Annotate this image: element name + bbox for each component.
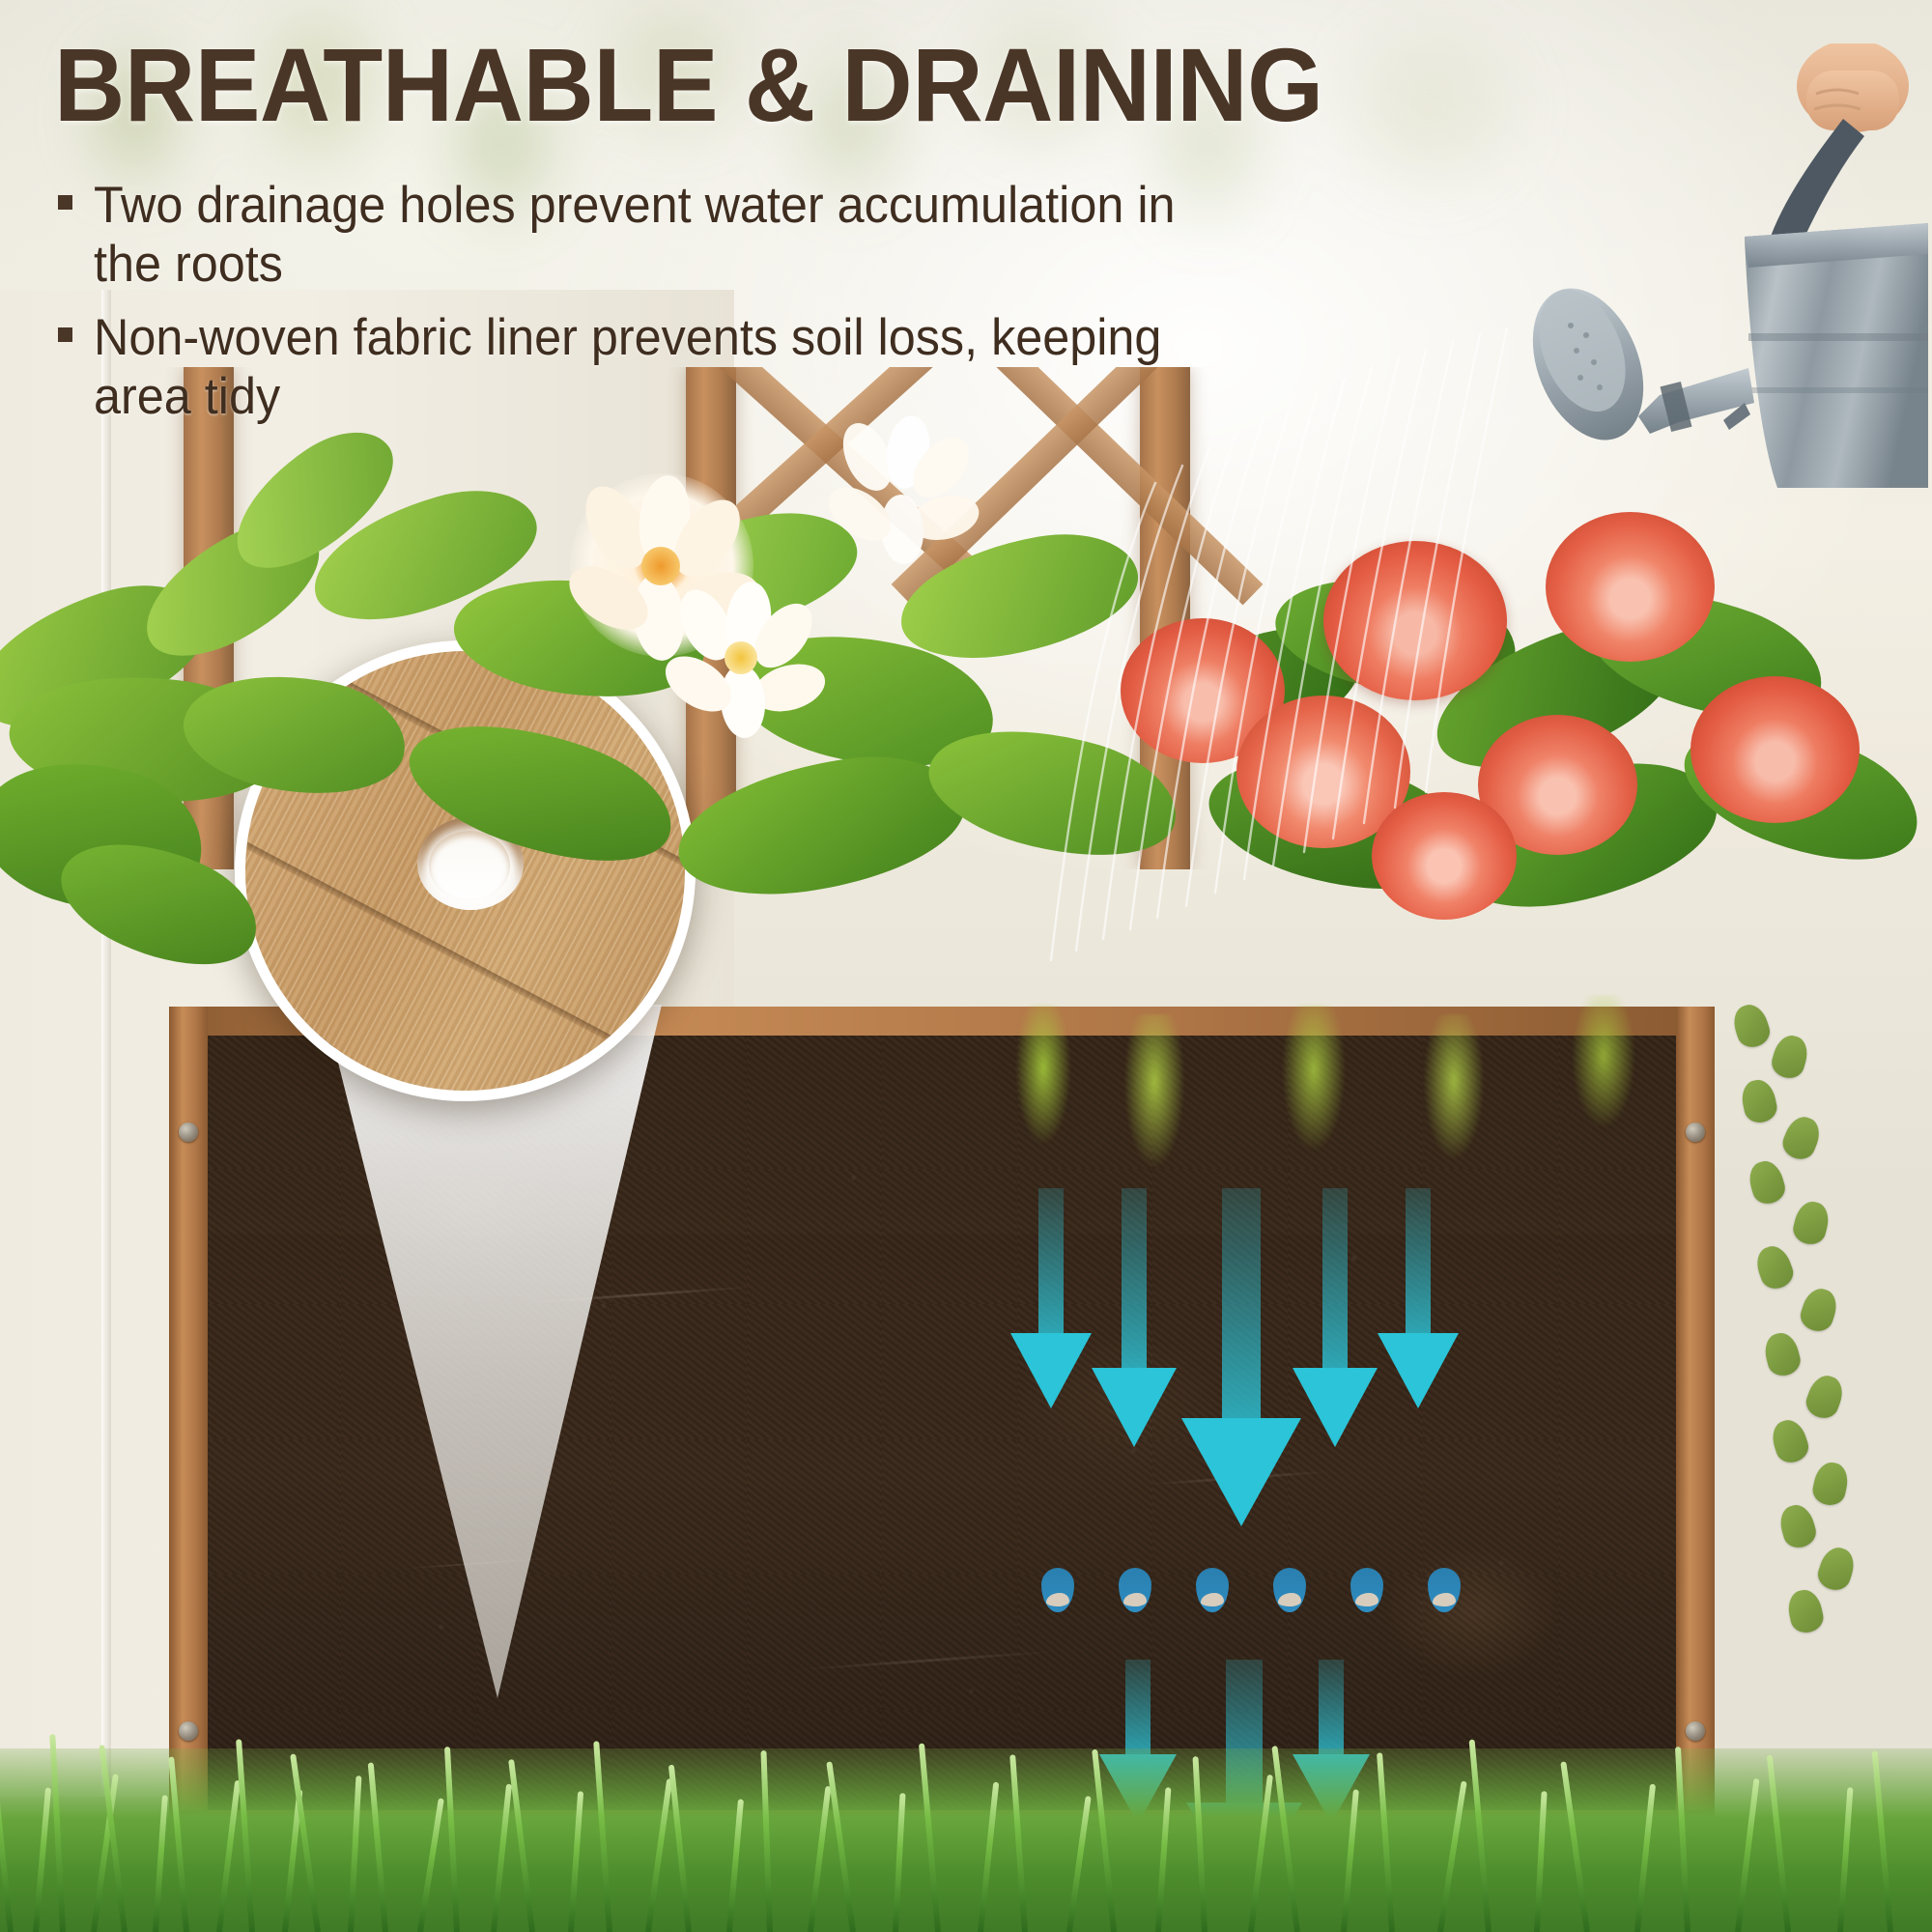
page-title: BREATHABLE & DRAINING xyxy=(54,33,1323,137)
square-bullet-icon xyxy=(58,195,72,210)
feature-bullet-list: Two drainage holes prevent water accumul… xyxy=(58,176,1275,440)
hand xyxy=(1797,43,1909,132)
screw xyxy=(1686,1122,1705,1142)
list-item: Two drainage holes prevent water accumul… xyxy=(58,176,1275,295)
drainage-hole-magnifier xyxy=(235,640,696,1101)
square-bullet-icon xyxy=(58,327,72,342)
product-feature-image: BREATHABLE & DRAINING Two drainage holes… xyxy=(0,0,1932,1932)
bullet-text: Two drainage holes prevent water accumul… xyxy=(94,176,1216,295)
drainage-hole-opening xyxy=(429,831,510,900)
screw xyxy=(179,1122,198,1142)
grass-blades xyxy=(0,1710,1932,1932)
bullet-text: Non-woven fabric liner prevents soil los… xyxy=(94,308,1216,427)
wall-edge xyxy=(101,290,111,1797)
magnifier-pointer-cone xyxy=(290,1005,696,1719)
watering-can xyxy=(1459,43,1932,497)
list-item: Non-woven fabric liner prevents soil los… xyxy=(58,308,1275,427)
